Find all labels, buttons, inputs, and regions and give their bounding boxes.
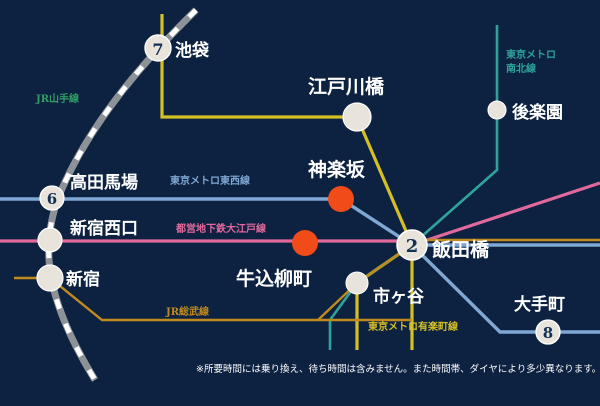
station-label-iidabashi: 飯田橋: [431, 238, 490, 261]
station-marker-kagurazaka[interactable]: [328, 186, 354, 212]
station-marker-shinjuku[interactable]: [37, 265, 63, 291]
line-label-tokyo-metro-namboku-2: 南北線: [506, 62, 536, 75]
station-label-ikebukuro: 池袋: [175, 40, 210, 61]
map-footnote: ※所要時間には乗り換え、待ち時間は含みません。また時間帯、ダイヤにより多少異なり…: [196, 363, 600, 375]
line-label-tokyo-metro-yurakucho: 東京メトロ有楽町線: [368, 320, 458, 333]
station-number-takadanobaba: 6: [47, 190, 57, 208]
transit-map-svg: JR山手線 東京メトロ東西線 都営地下鉄大江戸線 JR総武線 東京メトロ有楽町線…: [0, 0, 600, 406]
station-label-edogawabashi: 江戸川橋: [308, 75, 385, 98]
station-marker-ushigome-yanagicho[interactable]: [292, 230, 318, 256]
station-number-ikebukuro: 7: [152, 40, 163, 59]
station-number-otemachi: 8: [543, 324, 553, 342]
station-label-ichigaya: 市ヶ谷: [373, 286, 425, 307]
station-marker-korakuen[interactable]: [488, 101, 506, 119]
station-marker-ichigaya[interactable]: [346, 272, 368, 294]
station-label-shinjuku-nishiguchi: 新宿西口: [70, 218, 138, 239]
station-number-iidabashi: 2: [406, 236, 419, 257]
station-label-otemachi: 大手町: [514, 294, 565, 315]
station-marker-edogawabashi[interactable]: [343, 103, 371, 131]
station-label-ushigome-yanagicho: 牛込柳町: [236, 267, 312, 290]
line-label-toei-oedo: 都営地下鉄大江戸線: [175, 222, 266, 235]
line-label-tokyo-metro-namboku-1: 東京メトロ: [506, 48, 556, 61]
station-label-shinjuku: 新宿: [66, 269, 100, 290]
station-marker-shinjuku-nishiguchi[interactable]: [38, 228, 62, 252]
station-label-korakuen: 後楽園: [512, 102, 563, 123]
line-label-jr-sobu: JR総武線: [165, 305, 209, 318]
transit-map-container: JR山手線 東京メトロ東西線 都営地下鉄大江戸線 JR総武線 東京メトロ有楽町線…: [0, 0, 600, 406]
station-label-kagurazaka: 神楽坂: [308, 158, 366, 181]
station-label-takadanobaba: 高田馬場: [70, 172, 138, 193]
line-label-jr-yamanote: JR山手線: [35, 92, 79, 105]
line-label-tokyo-metro-tozai: 東京メトロ東西線: [170, 174, 250, 187]
